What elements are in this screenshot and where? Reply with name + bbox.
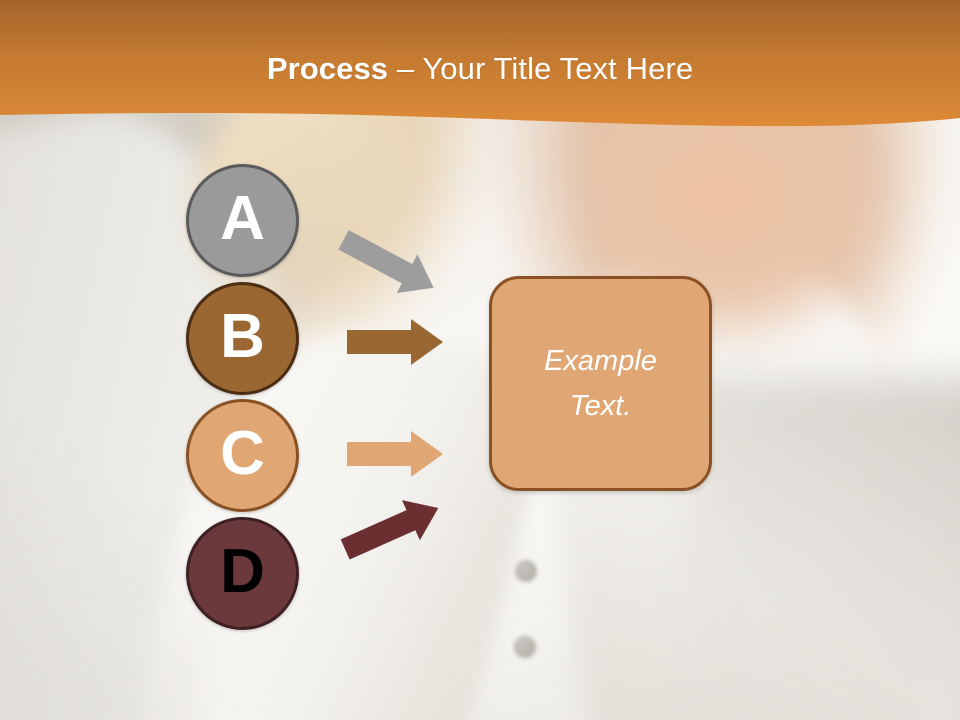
arrow-d-icon[interactable] — [340, 490, 460, 570]
step-letter-b: B — [220, 306, 265, 368]
arrow-c-icon[interactable] — [345, 428, 455, 483]
background-shadow-right — [690, 380, 960, 720]
step-circle-d[interactable]: D — [186, 517, 299, 630]
step-letter-c: C — [220, 423, 265, 485]
step-letter-a: A — [220, 188, 265, 250]
background-shadow-left — [0, 410, 200, 720]
page-title-bold: Process — [267, 51, 388, 86]
page-title: Process – Your Title Text Here — [0, 50, 960, 88]
arrow-b-icon[interactable] — [345, 317, 455, 372]
shirt-button — [515, 560, 537, 582]
result-box[interactable]: Example Text. — [489, 276, 712, 491]
step-circle-a[interactable]: A — [186, 164, 299, 277]
slide-canvas: Process – Your Title Text Here A B C D — [0, 0, 960, 720]
step-circle-c[interactable]: C — [186, 399, 299, 512]
step-letter-d: D — [220, 541, 265, 603]
result-box-text: Example Text. — [516, 339, 686, 429]
page-title-rest: – Your Title Text Here — [388, 51, 693, 86]
shirt-button — [514, 636, 536, 658]
arrow-a-icon[interactable] — [338, 218, 458, 298]
step-circle-b[interactable]: B — [186, 282, 299, 395]
